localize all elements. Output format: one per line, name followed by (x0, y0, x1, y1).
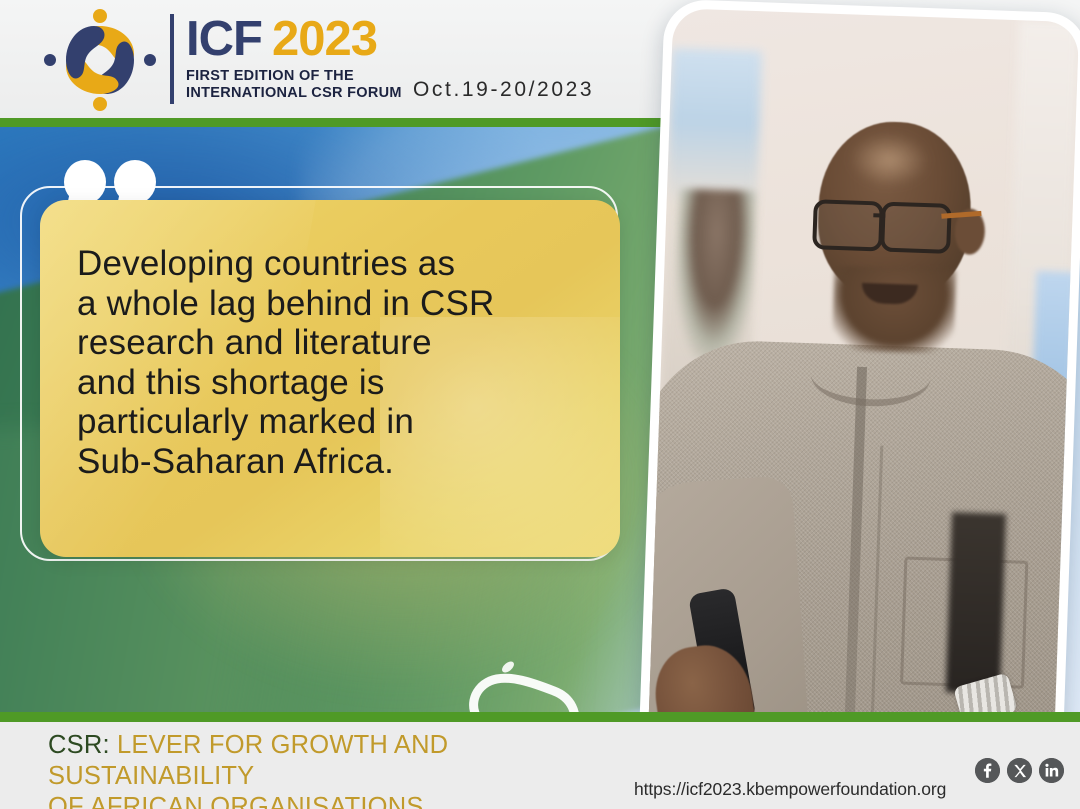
quote-mark-right (114, 160, 156, 204)
logo-subtitle-line1: FIRST EDITION OF THE (186, 68, 402, 85)
logo-icf-text: ICF (186, 12, 262, 66)
x-twitter-icon[interactable] (1007, 758, 1032, 783)
photo-glasses (812, 199, 963, 248)
logo-divider (170, 14, 174, 104)
linkedin-icon[interactable] (1039, 758, 1064, 783)
website-url[interactable]: https://icf2023.kbempowerfoundation.org (634, 779, 946, 800)
event-date: Oct.19-20/2023 (413, 78, 594, 102)
africa-in-hand-icon (420, 645, 670, 712)
photo-glasses-bridge (873, 213, 885, 217)
quote-card: Developing countries as a whole lag behi… (40, 200, 620, 557)
photo-lens-left (812, 199, 884, 251)
pinwheel-people-logo-icon (38, 8, 163, 112)
photo-bg-person (673, 188, 757, 361)
photo-lens-right (880, 202, 952, 254)
footer-bar: CSR: LEVER FOR GROWTH AND SUSTAINABILITY… (0, 722, 1080, 809)
photo-chin (832, 266, 957, 354)
social-links (975, 758, 1064, 783)
quote-mark-left (64, 160, 106, 204)
green-divider-bottom (0, 712, 1080, 722)
facebook-icon[interactable] (975, 758, 1000, 783)
poster: ICF2023 FIRST EDITION OF THE INTERNATION… (0, 0, 1080, 809)
photo-background-shadow (946, 512, 1006, 694)
photo-head-highlight (849, 132, 929, 187)
speaker-portrait-image (647, 8, 1079, 786)
speaker-portrait (637, 0, 1080, 795)
logo-title-row: ICF2023 (186, 12, 402, 66)
footer-tagline: CSR: LEVER FOR GROWTH AND SUSTAINABILITY… (48, 730, 648, 809)
logo-year-text: 2023 (272, 12, 377, 66)
logo-wordmark: ICF2023 FIRST EDITION OF THE INTERNATION… (186, 12, 402, 102)
tagline-prefix: CSR: (48, 731, 110, 759)
logo-subtitle-line2: INTERNATIONAL CSR FORUM (186, 85, 402, 102)
logo-subtitle: FIRST EDITION OF THE INTERNATIONAL CSR F… (186, 68, 402, 102)
quote-text: Developing countries as a whole lag behi… (77, 244, 587, 481)
